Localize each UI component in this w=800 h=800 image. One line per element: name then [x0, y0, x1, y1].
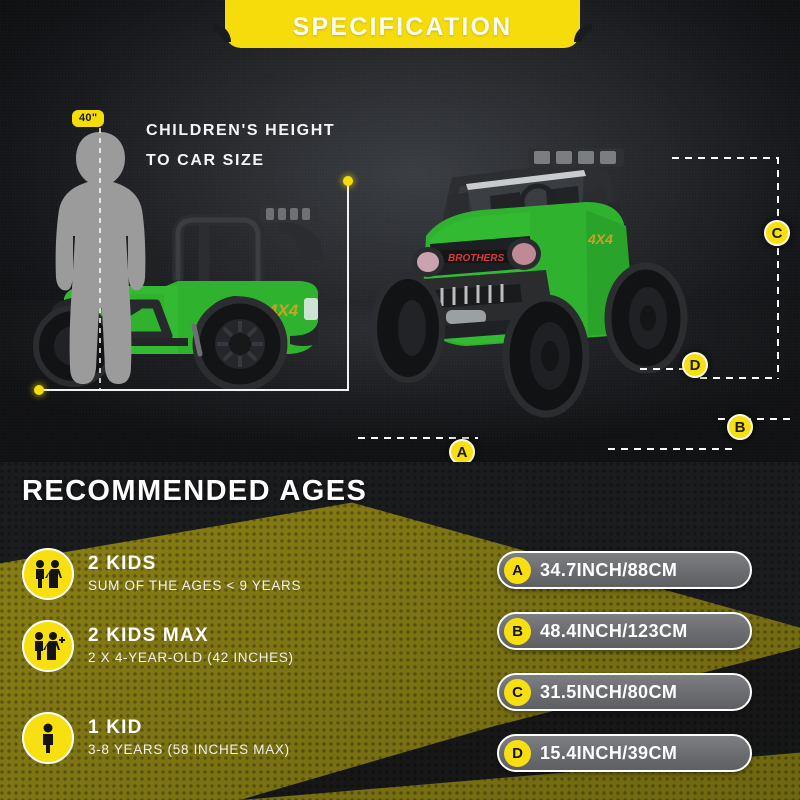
ground-reference-line: [38, 389, 348, 391]
age-title: 2 KIDS MAX: [88, 625, 294, 647]
age-row-two-kids-max: 2 KIDS MAX 2 X 4-YEAR-OLD (42 INCHES): [22, 620, 294, 672]
dimension-pill-b[interactable]: B 48.4INCH/123CM: [497, 612, 752, 650]
specification-banner: SPECIFICATION: [225, 0, 580, 48]
dimension-marker-a[interactable]: A: [449, 439, 475, 462]
dimension-value-d: 15.4INCH/39CM: [540, 743, 677, 764]
dimension-pill-c[interactable]: C 31.5INCH/80CM: [497, 673, 752, 711]
dimension-line-b-lower: [608, 448, 738, 450]
dimension-pill-d[interactable]: D 15.4INCH/39CM: [497, 734, 752, 772]
two-kids-icon: [22, 548, 74, 600]
dimension-line-c-bottom: [700, 377, 778, 379]
dimension-marker-d[interactable]: D: [682, 352, 708, 378]
product-diagram-section: 4X4: [0, 0, 800, 462]
front-winch: [446, 310, 486, 324]
height-badge-40in: 40": [72, 110, 104, 127]
dimension-marker-c[interactable]: C: [764, 220, 790, 246]
age-subtitle: 2 X 4-YEAR-OLD (42 INCHES): [88, 649, 294, 667]
ride-on-car-front-view: 4X4 BROTHERS: [370, 140, 715, 440]
dimension-badge-c: C: [504, 679, 531, 706]
diagram-heading-line2: TO CAR SIZE: [146, 152, 265, 170]
two-kids-max-icon: [22, 620, 74, 672]
age-subtitle: SUM OF THE AGES < 9 YEARS: [88, 577, 301, 595]
specification-infographic: 4X4: [0, 0, 800, 800]
age-row-one-kid: 1 KID 3-8 YEARS (58 INCHES MAX): [22, 712, 290, 764]
dimension-badge-b: B: [504, 618, 531, 645]
wheel-rear-right: [608, 266, 684, 370]
grille-badge-text: BROTHERS: [448, 253, 504, 264]
height-dashed-line: [99, 128, 101, 390]
wheel-front-right: [506, 298, 586, 414]
diagram-heading-line1: CHILDREN'S HEIGHT: [146, 122, 335, 140]
dimension-marker-b[interactable]: B: [727, 414, 753, 440]
reference-dot-left: [34, 385, 44, 395]
dimension-line-c-top: [672, 157, 778, 159]
decal-4x4-front: 4X4: [587, 231, 613, 247]
wheel-rear-side: [196, 300, 284, 388]
age-title: 1 KID: [88, 717, 290, 739]
dimension-badge-d: D: [504, 740, 531, 767]
age-row-two-kids: 2 KIDS SUM OF THE AGES < 9 YEARS: [22, 548, 301, 600]
dimension-line-c-vertical: [777, 157, 779, 379]
specification-title: SPECIFICATION: [293, 13, 513, 42]
recommended-ages-title: RECOMMENDED AGES: [22, 475, 367, 508]
age-title: 2 KIDS: [88, 553, 301, 575]
reference-dot-right: [343, 176, 353, 186]
dimension-value-a: 34.7INCH/88CM: [540, 560, 677, 581]
age-subtitle: 3-8 YEARS (58 INCHES MAX): [88, 741, 290, 759]
dimension-pill-a[interactable]: A 34.7INCH/88CM: [497, 551, 752, 589]
dimension-value-c: 31.5INCH/80CM: [540, 682, 677, 703]
wheel-front-left: [374, 276, 442, 380]
one-kid-icon: [22, 712, 74, 764]
vertical-reference-line: [347, 180, 349, 391]
dimension-badge-a: A: [504, 557, 531, 584]
dimension-value-b: 48.4INCH/123CM: [540, 621, 688, 642]
